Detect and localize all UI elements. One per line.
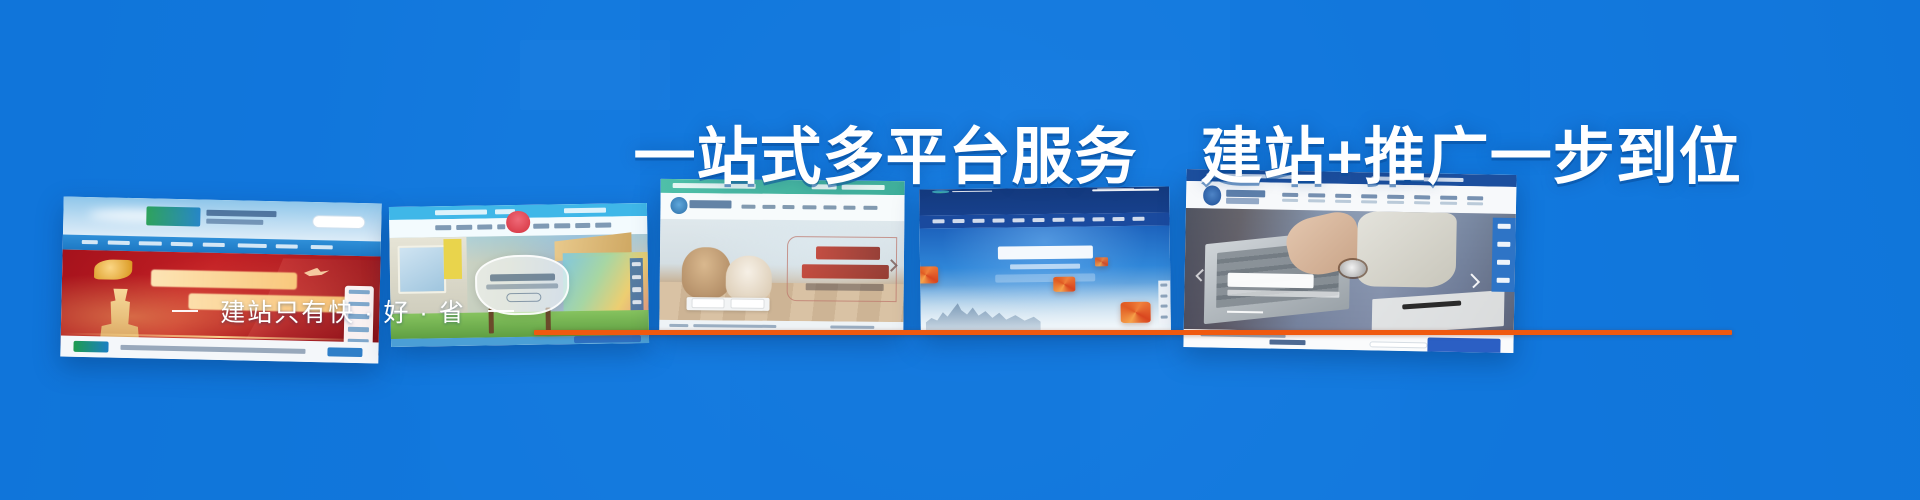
headline-underline	[534, 330, 1732, 335]
card2-chat-button[interactable]	[574, 335, 641, 343]
card1-footer-logo	[73, 341, 108, 353]
eyebrow-dash-left-icon	[172, 310, 198, 312]
card5-footer-search-input[interactable]	[1370, 341, 1428, 349]
card5-chat-button[interactable]	[1428, 337, 1501, 353]
eyebrow-text: 建站只有快 · 好 · 省	[220, 293, 465, 329]
eyebrow-dash-right-icon	[488, 310, 514, 312]
card5-footer-link[interactable]	[1269, 340, 1305, 345]
page-title: 一站式多平台服务 建站+推广一步到位	[518, 58, 1748, 326]
banner-stage: 建站只有快 · 好 · 省 一站式多平台服务 建站+推广一步到位	[0, 0, 1920, 500]
headline-block: 建站只有快 · 好 · 省 一站式多平台服务 建站+推广一步到位	[0, 42, 1920, 329]
card1-footer-button[interactable]	[328, 348, 363, 357]
headline-text: 一站式多平台服务 建站+推广一步到位	[634, 123, 1742, 192]
eyebrow-line: 建站只有快 · 好 · 省	[172, 293, 513, 329]
card1-footer-text	[121, 345, 305, 354]
